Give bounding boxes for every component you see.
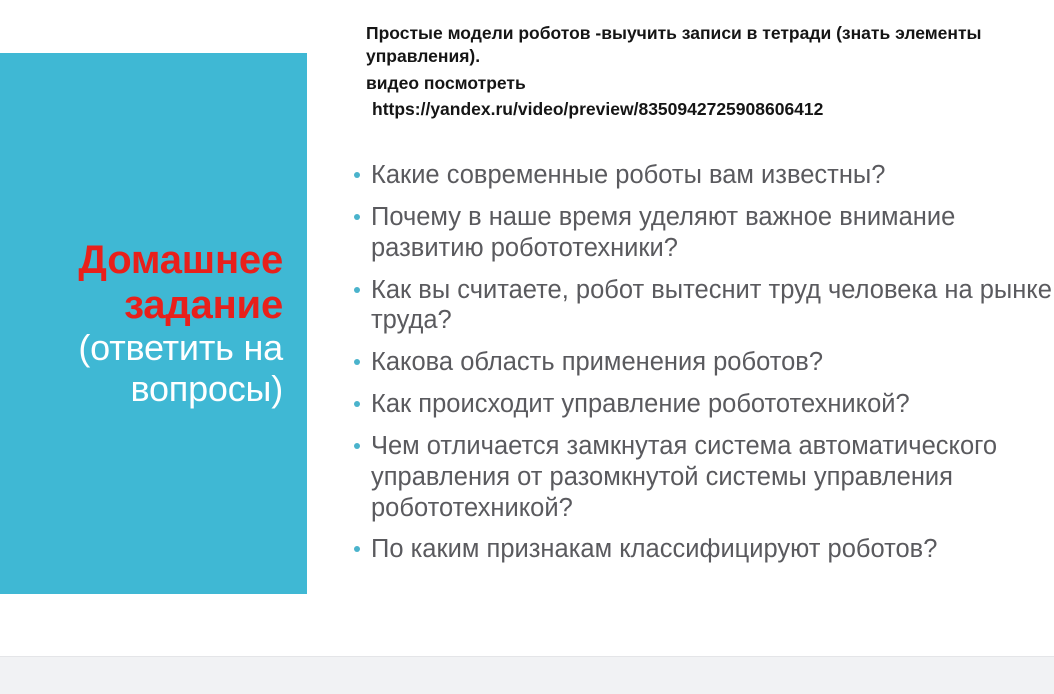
title-line-questions: вопросы) [10,369,283,410]
heading-line-2: управления). [366,45,1054,68]
question-text: По каким признакам классифицируют робото… [371,534,1054,565]
bullet-dot-icon [354,443,360,449]
heading-video-note: видео посмотреть [366,72,1054,95]
list-item: Как происходит управление робототехникой… [352,389,1054,420]
question-text: Какие современные роботы вам известны? [371,160,1054,191]
title-line-homework: Домашнее [10,238,283,283]
question-text: Как происходит управление робототехникой… [371,389,1054,420]
heading-block: Простые модели роботов -выучить записи в… [366,22,1054,121]
question-list: Какие современные роботы вам известны? П… [352,160,1054,576]
bullet-dot-icon [354,287,360,293]
slide-canvas: Домашнее задание (ответить на вопросы) П… [0,0,1054,694]
question-text: Какова область применения роботов? [371,347,1054,378]
question-text: Как вы считаете, робот вытеснит труд чел… [371,275,1054,337]
bullet-dot-icon [354,546,360,552]
title-line-answer: (ответить на [10,328,283,369]
bottom-strip [0,656,1054,694]
bullet-dot-icon [354,172,360,178]
bullet-dot-icon [354,359,360,365]
list-item: Почему в наше время уделяют важное внима… [352,202,1054,264]
heading-line-1: Простые модели роботов -выучить записи в… [366,22,1054,45]
homework-title-panel: Домашнее задание (ответить на вопросы) [0,53,307,594]
list-item: Как вы считаете, робот вытеснит труд чел… [352,275,1054,337]
list-item: Какие современные роботы вам известны? [352,160,1054,191]
list-item: Чем отличается замкнутая система автомат… [352,431,1054,524]
question-text: Чем отличается замкнутая система автомат… [371,431,1054,524]
bullet-dot-icon [354,214,360,220]
list-item: По каким признакам классифицируют робото… [352,534,1054,565]
question-text: Почему в наше время уделяют важное внима… [371,202,1054,264]
list-item: Какова область применения роботов? [352,347,1054,378]
title-line-assignment: задание [10,283,283,328]
video-url-link[interactable]: https://yandex.ru/video/preview/83509427… [366,98,1054,121]
bullet-dot-icon [354,401,360,407]
